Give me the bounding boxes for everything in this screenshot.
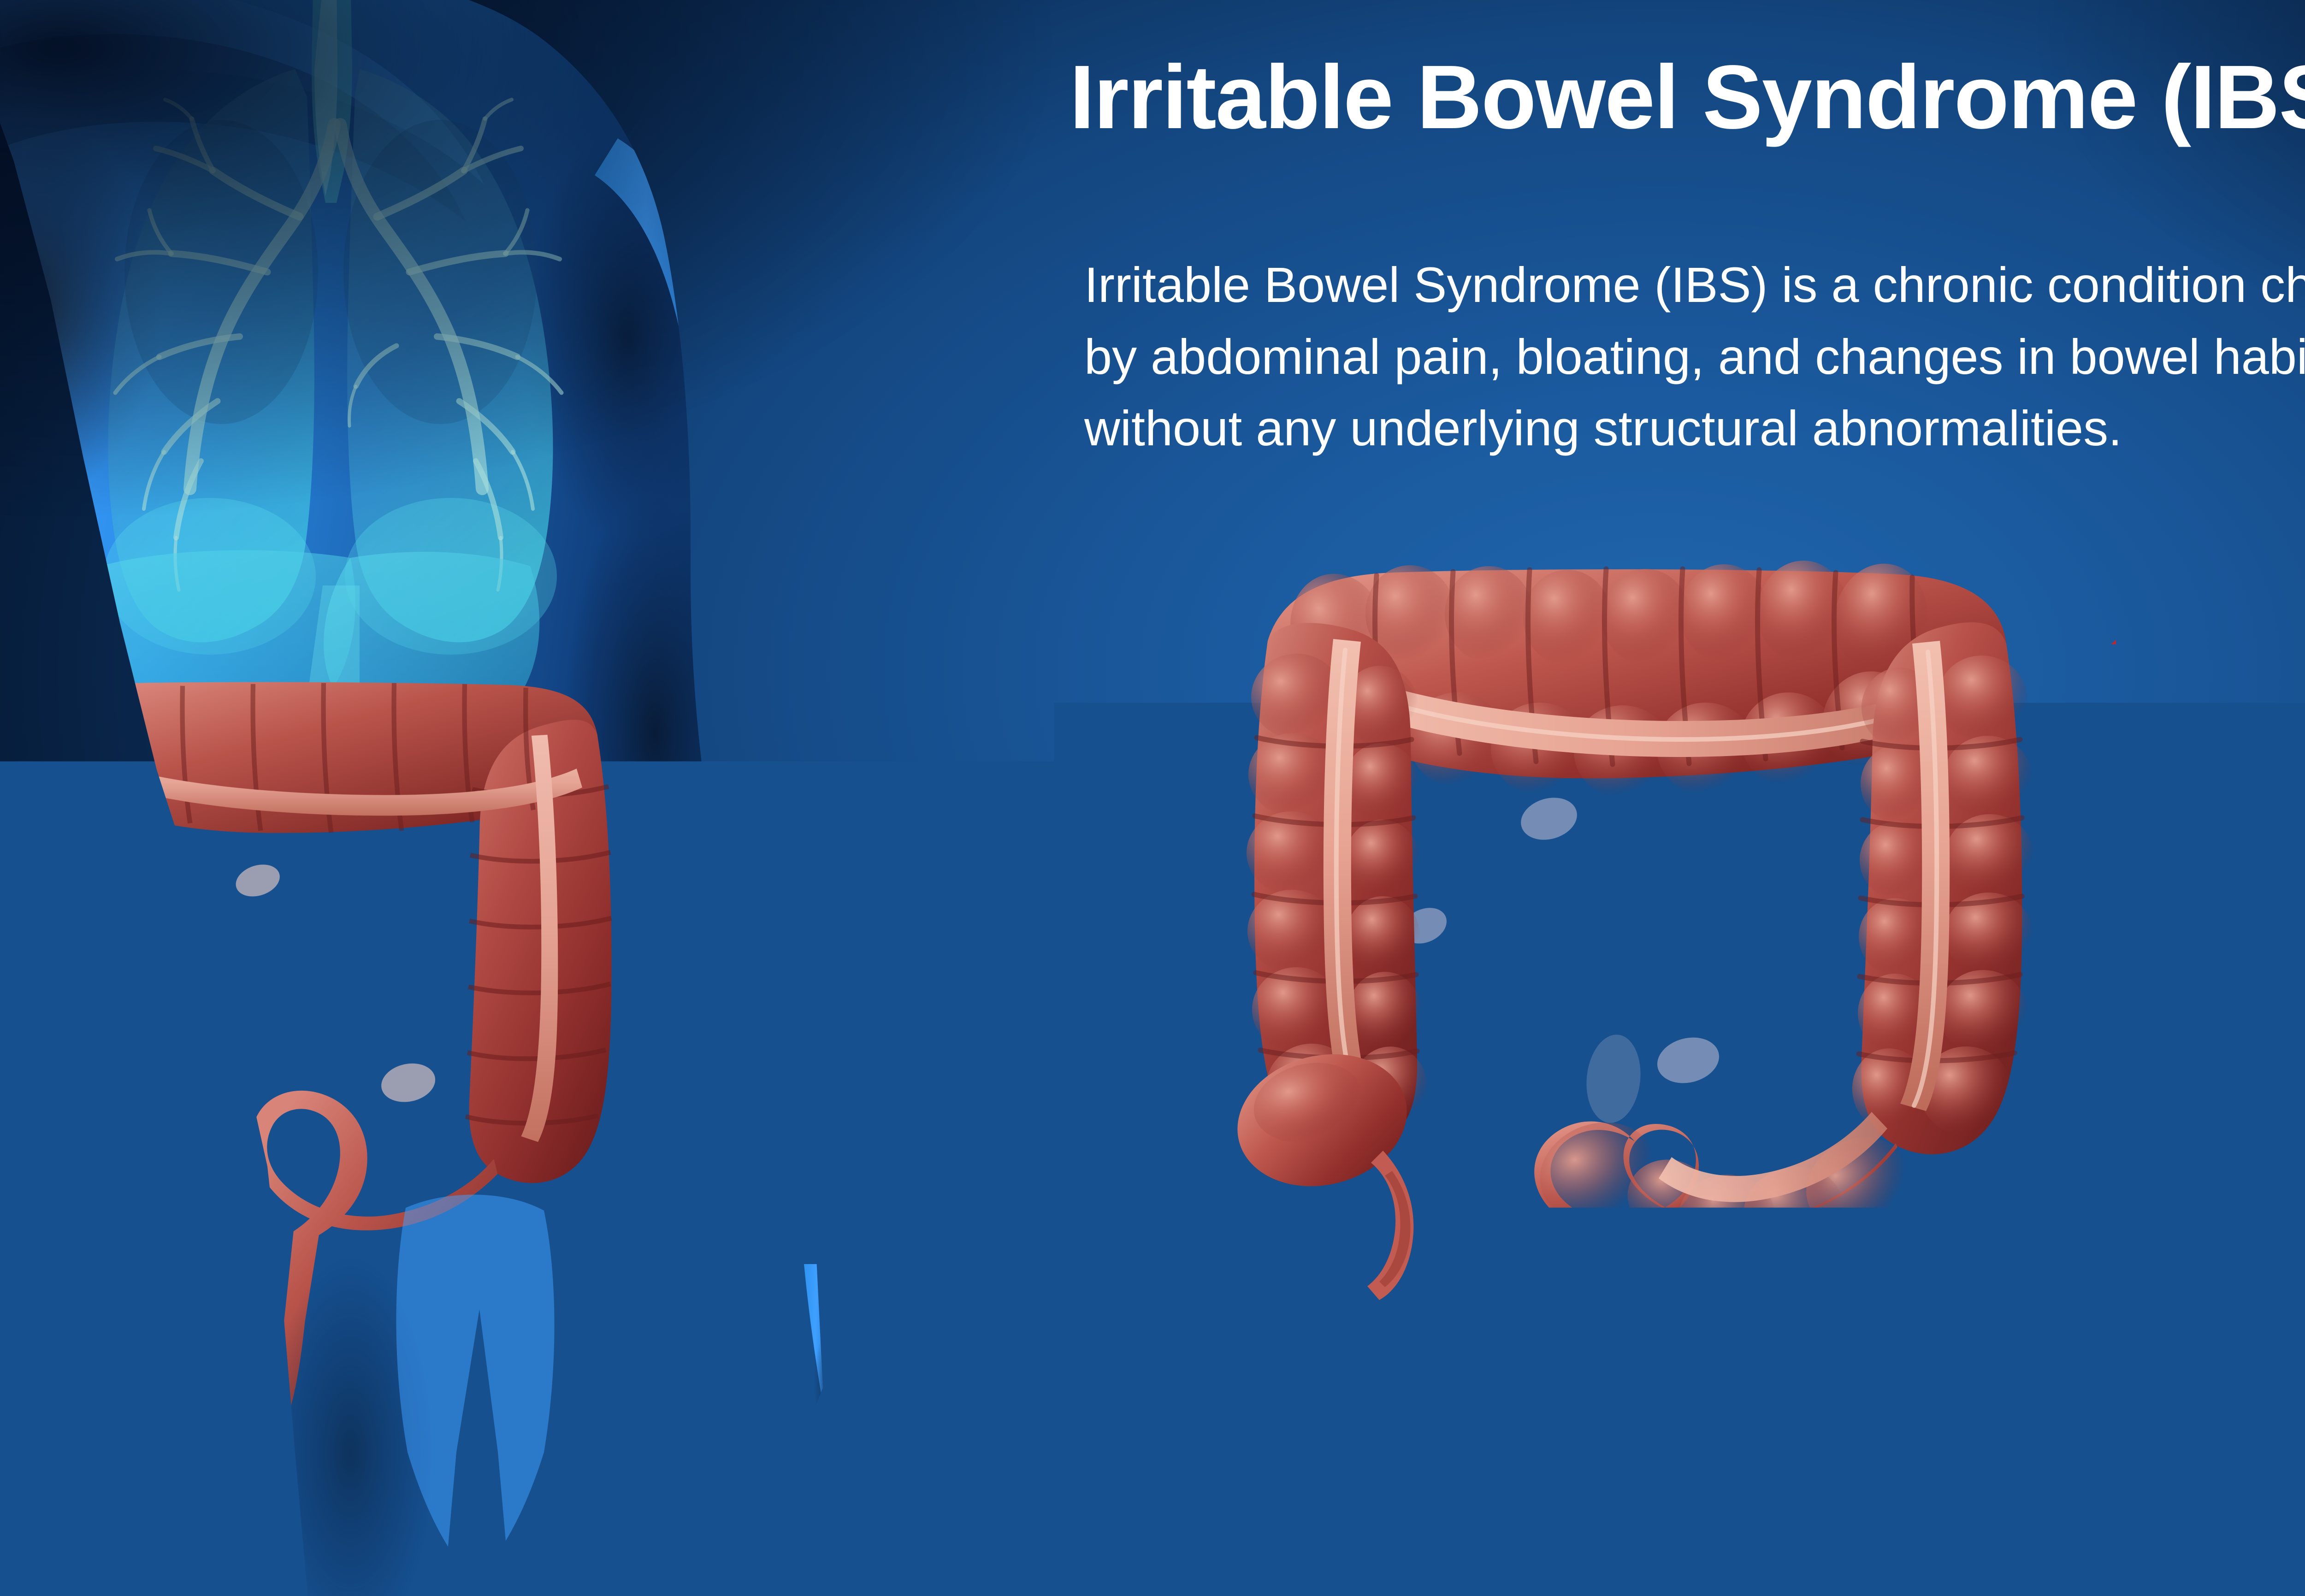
callout-label-diarrhea: Diarrhea (2206, 1246, 2305, 1303)
callout-label-constipation: Constipation (2206, 643, 2305, 700)
callout-diarrhea: Diarrhea (2080, 1240, 2305, 1309)
arrow-left-icon (2080, 1240, 2181, 1309)
description-paragraph: Irritable Bowel Syndrome (IBS) is a chro… (1084, 249, 2305, 464)
page-title: Irritable Bowel Syndrome (IBS) (1070, 50, 2305, 145)
infographic-canvas: Irritable Bowel Syndrome (IBS) Irritable… (0, 0, 2305, 1596)
description-line-2: by abdominal pain, bloating, and changes… (1084, 321, 2305, 393)
arrow-left-icon (2080, 637, 2181, 706)
arrow-left-icon (2080, 998, 2181, 1067)
callout-constipation: Constipation (2080, 637, 2305, 706)
description-line-1: Irritable Bowel Syndrome (IBS) is a chro… (1084, 249, 2305, 321)
arrow-left-icon (2080, 811, 2181, 881)
background-vignette (0, 0, 2305, 1596)
callout-label-distended-bowel: Distended bowel (2206, 1004, 2305, 1061)
description-line-3: without any underlying structural abnorm… (1084, 392, 2305, 464)
callout-area-of-spasm: Area of spasm (2080, 811, 2305, 881)
callout-label-area-of-spasm: Area of spasm (2206, 817, 2305, 875)
callout-distended-bowel: Distended bowel (2080, 998, 2305, 1067)
